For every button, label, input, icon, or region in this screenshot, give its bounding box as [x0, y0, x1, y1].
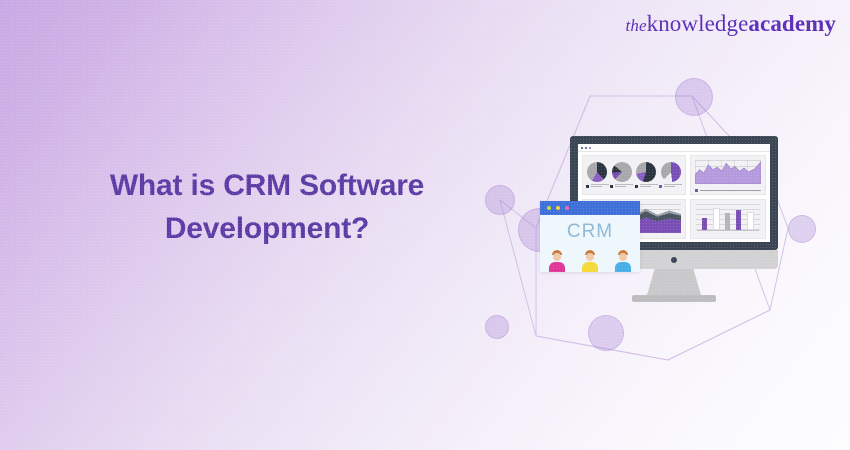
pie-chart-2	[610, 162, 633, 188]
monitor-stand-base	[632, 295, 716, 302]
legend-line	[700, 190, 761, 191]
bar-series	[699, 207, 757, 230]
crm-dot-yellow-icon	[556, 206, 560, 210]
bar	[702, 218, 707, 230]
pie-graphic	[612, 162, 632, 182]
brand-logo[interactable]: theknowledgeacademy	[626, 12, 836, 35]
pie-chart-3	[635, 162, 658, 188]
logo-the: the	[626, 16, 647, 35]
legend-lines	[664, 184, 682, 188]
head-icon	[586, 253, 594, 261]
legend-swatch	[695, 189, 698, 192]
legend-swatch	[635, 185, 638, 188]
pie-legend	[610, 184, 633, 188]
screen-window-bar	[578, 144, 770, 152]
page-title-line-1: What is CRM Software	[52, 165, 482, 208]
decorative-circle	[485, 315, 509, 339]
area-chart-panel-purple	[690, 155, 766, 195]
legend-swatch	[659, 185, 662, 188]
decorative-circle	[485, 185, 515, 215]
legend-lines	[591, 184, 609, 188]
crm-window: CRM	[540, 201, 640, 272]
pie-graphic	[661, 162, 681, 182]
legend-lines	[615, 184, 633, 188]
pie-legend	[586, 184, 609, 188]
decorative-circle	[675, 78, 713, 116]
pie-chart-panel	[582, 155, 686, 195]
crm-title: CRM	[540, 221, 640, 243]
person-avatar	[546, 250, 568, 272]
person-avatar	[579, 250, 601, 272]
decorative-circle	[788, 215, 816, 243]
page-title: What is CRM Software Development?	[52, 165, 482, 250]
legend-lines	[640, 184, 658, 188]
crm-title-bar	[540, 201, 640, 215]
area-series-purple	[695, 160, 761, 184]
person-avatar	[612, 250, 634, 272]
window-dot-2-icon	[585, 147, 587, 149]
decorative-circle	[588, 315, 624, 351]
pie-chart-4	[659, 162, 682, 188]
logo-academy: academy	[748, 11, 836, 36]
logo-knowledge: knowledge	[647, 11, 749, 36]
window-dot-1-icon	[581, 147, 583, 149]
page-title-line-2: Development?	[52, 208, 482, 251]
banner: CRM What is CR	[0, 0, 850, 450]
bar	[736, 210, 741, 230]
chart-legend	[695, 189, 761, 192]
bar	[725, 213, 730, 230]
head-icon	[619, 253, 627, 261]
legend-swatch	[610, 185, 613, 188]
body-icon	[582, 262, 598, 272]
legend-swatch	[586, 185, 589, 188]
body-icon	[615, 262, 631, 272]
area-chart-plot	[695, 160, 761, 184]
crm-dot-green-icon	[547, 206, 551, 210]
pie-legend	[659, 184, 682, 188]
crm-people-group	[540, 250, 640, 272]
body-icon	[549, 262, 565, 272]
pie-chart-1	[586, 162, 609, 188]
bar-baseline	[697, 230, 759, 231]
monitor-led-icon	[671, 257, 677, 263]
crm-dot-pink-icon	[565, 206, 569, 210]
bar	[713, 208, 720, 230]
illustration-area: CRM	[470, 60, 850, 420]
monitor-stand-neck	[647, 269, 701, 295]
pie-graphic	[587, 162, 607, 182]
pie-legend	[635, 184, 658, 188]
window-dot-3-icon	[589, 147, 591, 149]
head-icon	[553, 253, 561, 261]
bar-chart-panel	[690, 199, 766, 239]
bar	[747, 212, 754, 230]
pie-graphic	[636, 162, 656, 182]
